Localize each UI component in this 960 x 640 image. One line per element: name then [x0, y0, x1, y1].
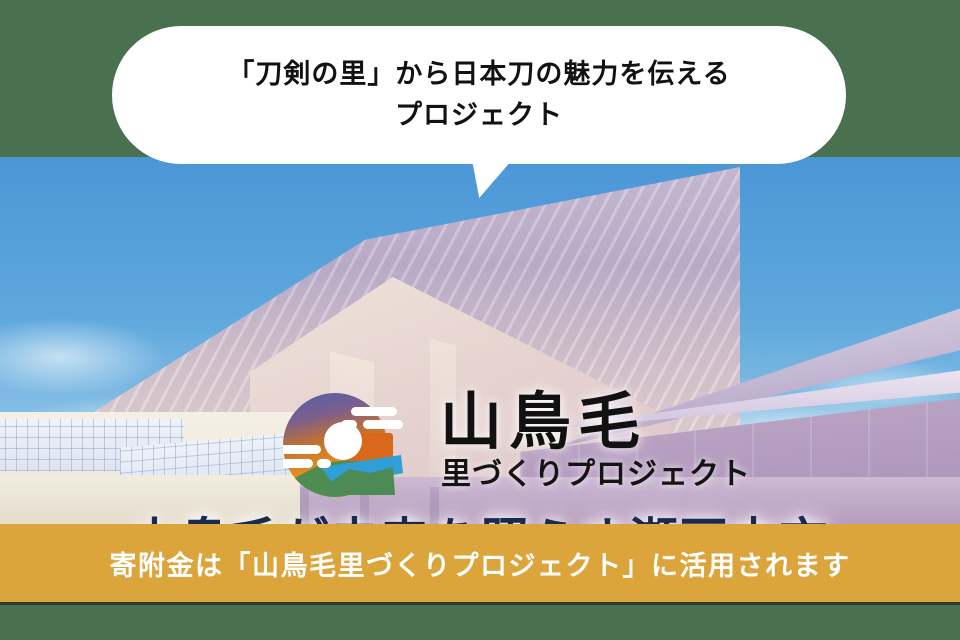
logo-main-text: 山鳥毛 [440, 391, 647, 453]
footer-strip [0, 605, 960, 640]
logo-sub-text: 里づくりプロジェクト [441, 460, 751, 490]
gold-banner: 寄附金は「山鳥毛里づくりプロジェクト」に活用されます [0, 524, 960, 602]
hero-tagline: 山鳥毛が未来を照らす瀬戸内市 [0, 517, 960, 524]
hero-photo: 山鳥毛 里づくりプロジェクト 山鳥毛が未来を照らす瀬戸内市 [0, 157, 960, 524]
banner-divider [0, 602, 960, 605]
gold-banner-text: 寄附金は「山鳥毛里づくりプロジェクト」に活用されます [110, 544, 851, 583]
sunset-mountain-sea-emblem [283, 389, 403, 501]
speech-bubble-line-1: 「刀剣の里」から日本刀の魅力を伝える [227, 56, 730, 93]
speech-bubble-line-2: プロジェクト [395, 97, 563, 134]
speech-bubble-text: 「刀剣の里」から日本刀の魅力を伝える プロジェクト [112, 26, 846, 164]
promo-banner: 山鳥毛 里づくりプロジェクト 山鳥毛が未来を照らす瀬戸内市 [0, 0, 960, 640]
speech-bubble: 「刀剣の里」から日本刀の魅力を伝える プロジェクト [112, 26, 846, 164]
